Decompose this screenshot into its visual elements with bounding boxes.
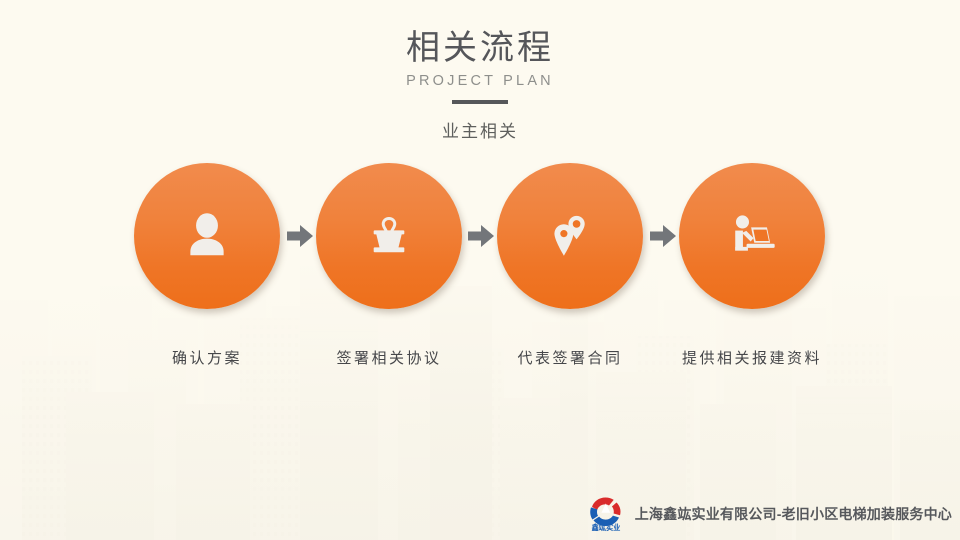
slide-canvas: 相关流程 PROJECT PLAN 业主相关 确认方案 <box>0 0 960 540</box>
footer-company-text: 上海鑫竑实业有限公司-老旧小区电梯加装服务中心 <box>635 504 952 524</box>
flow-step-1-label: 确认方案 <box>134 347 280 368</box>
flow-step-3[interactable]: 代表签署合同 <box>497 163 643 368</box>
flow-step-2[interactable]: 签署相关协议 <box>316 163 462 368</box>
section-subtitle: 业主相关 <box>0 120 960 144</box>
flow-step-4-circle[interactable] <box>679 163 825 309</box>
arrow-right-icon <box>285 221 315 251</box>
title-divider <box>452 100 508 104</box>
slide-header: 相关流程 PROJECT PLAN 业主相关 <box>0 28 960 144</box>
arrow-right-icon <box>466 221 496 251</box>
flow-step-3-label: 代表签署合同 <box>497 347 643 368</box>
xinhong-company-logo: 鑫竑实业 <box>585 494 627 534</box>
page-title: 相关流程 <box>0 28 960 68</box>
flow-step-4-label: 提供相关报建资料 <box>679 347 825 368</box>
binder-clip-icon <box>361 208 417 264</box>
map-pins-icon <box>542 208 598 264</box>
arrow-right-icon <box>648 221 678 251</box>
process-flow: 确认方案 <box>0 163 960 373</box>
flow-step-1-circle[interactable] <box>134 163 280 309</box>
svg-text:鑫竑实业: 鑫竑实业 <box>590 523 620 532</box>
flow-step-2-label: 签署相关协议 <box>316 347 462 368</box>
flow-step-3-circle[interactable] <box>497 163 643 309</box>
flow-step-2-circle[interactable] <box>316 163 462 309</box>
page-subtitle-en: PROJECT PLAN <box>0 71 960 91</box>
footer-bar: 鑫竑实业 上海鑫竑实业有限公司-老旧小区电梯加装服务中心 <box>585 494 952 534</box>
flow-step-1[interactable]: 确认方案 <box>134 163 280 368</box>
person-laptop-icon <box>723 207 781 265</box>
user-icon <box>179 208 235 264</box>
flow-step-4[interactable]: 提供相关报建资料 <box>679 163 825 368</box>
